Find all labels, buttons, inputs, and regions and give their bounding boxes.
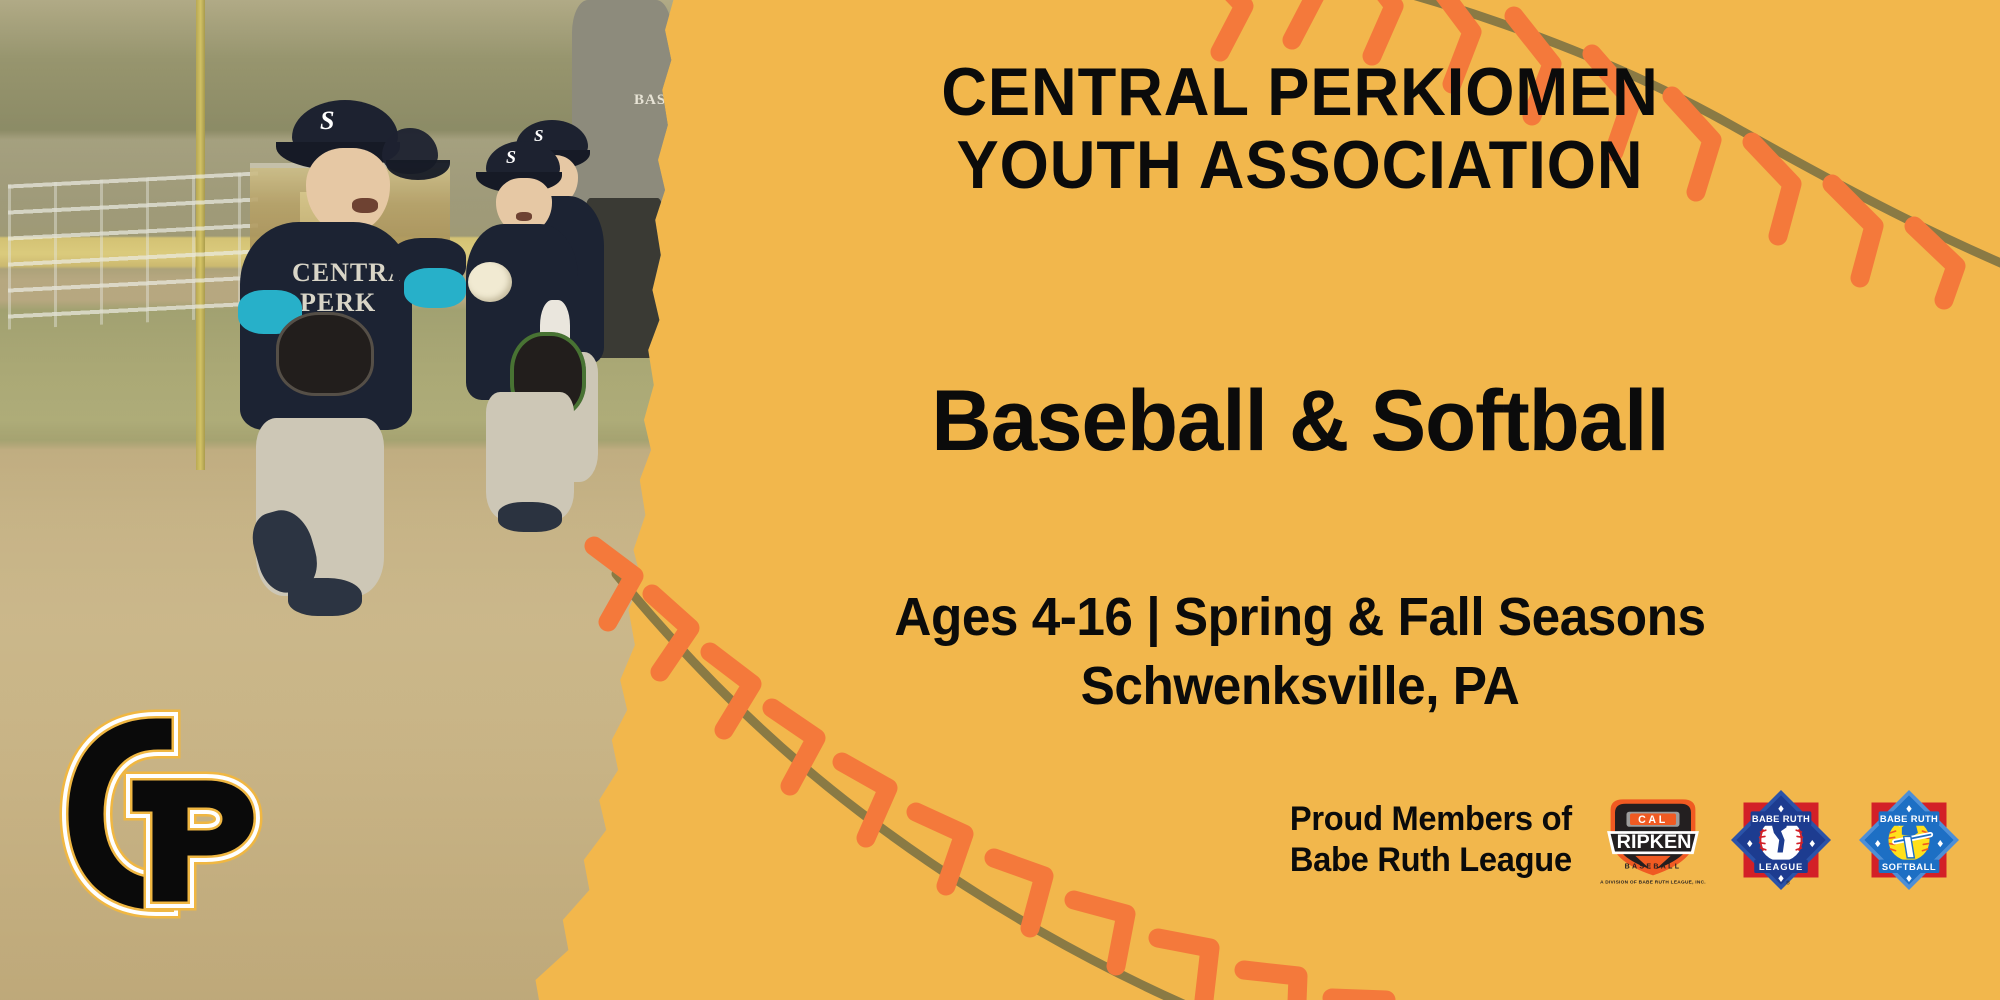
babe-ruth-softball-logo: BABE RUTH SOFTBALL bbox=[1856, 790, 1962, 890]
proud-line-2: Babe Ruth League bbox=[1290, 840, 1572, 881]
headline-line-1: CENTRAL PERKIOMEN bbox=[705, 56, 1895, 129]
proud-members-text: Proud Members of Babe Ruth League bbox=[1290, 799, 1572, 882]
program-details: Ages 4-16 | Spring & Fall Seasons Schwen… bbox=[692, 583, 1908, 720]
affiliations-footer: Proud Members of Babe Ruth League CAL RI… bbox=[660, 790, 1962, 890]
svg-text:RIPKEN: RIPKEN bbox=[1617, 831, 1692, 853]
svg-text:®: ® bbox=[1786, 880, 1790, 887]
svg-text:SOFTBALL: SOFTBALL bbox=[1882, 862, 1936, 872]
cp-monogram-logo bbox=[48, 700, 268, 930]
svg-text:BASEBALL: BASEBALL bbox=[1625, 863, 1682, 870]
catchers-mitt bbox=[276, 312, 374, 396]
details-line-1: Ages 4-16 | Spring & Fall Seasons bbox=[692, 583, 1908, 652]
babe-ruth-league-logo: BABE RUTH LEAGUE ® bbox=[1728, 790, 1834, 890]
headline-line-2: YOUTH ASSOCIATION bbox=[705, 129, 1895, 202]
svg-text:LEAGUE: LEAGUE bbox=[1759, 862, 1803, 872]
svg-text:CAL: CAL bbox=[1638, 814, 1668, 826]
cal-ripken-logo: CAL RIPKEN BASEBALL A DIVISION OF BABE R… bbox=[1600, 790, 1706, 890]
team-photo: BASE S S S bbox=[0, 0, 700, 1000]
bleachers bbox=[8, 171, 258, 329]
svg-text:BABE RUTH: BABE RUTH bbox=[1880, 814, 1938, 824]
page-title: CENTRAL PERKIOMEN YOUTH ASSOCIATION bbox=[705, 56, 1895, 203]
proud-line-1: Proud Members of bbox=[1290, 799, 1572, 840]
svg-text:A DIVISION OF BABE RUTH LEAGUE: A DIVISION OF BABE RUTH LEAGUE, INC. bbox=[1600, 879, 1706, 885]
baseball bbox=[468, 262, 512, 302]
poster-content: CENTRAL PERKIOMEN YOUTH ASSOCIATION Base… bbox=[660, 0, 2000, 1000]
svg-text:BABE RUTH: BABE RUTH bbox=[1752, 814, 1810, 824]
details-line-2: Schwenksville, PA bbox=[692, 652, 1908, 721]
promo-poster: BASE S S S bbox=[0, 0, 2000, 1000]
subheading: Baseball & Softball bbox=[679, 372, 1921, 471]
